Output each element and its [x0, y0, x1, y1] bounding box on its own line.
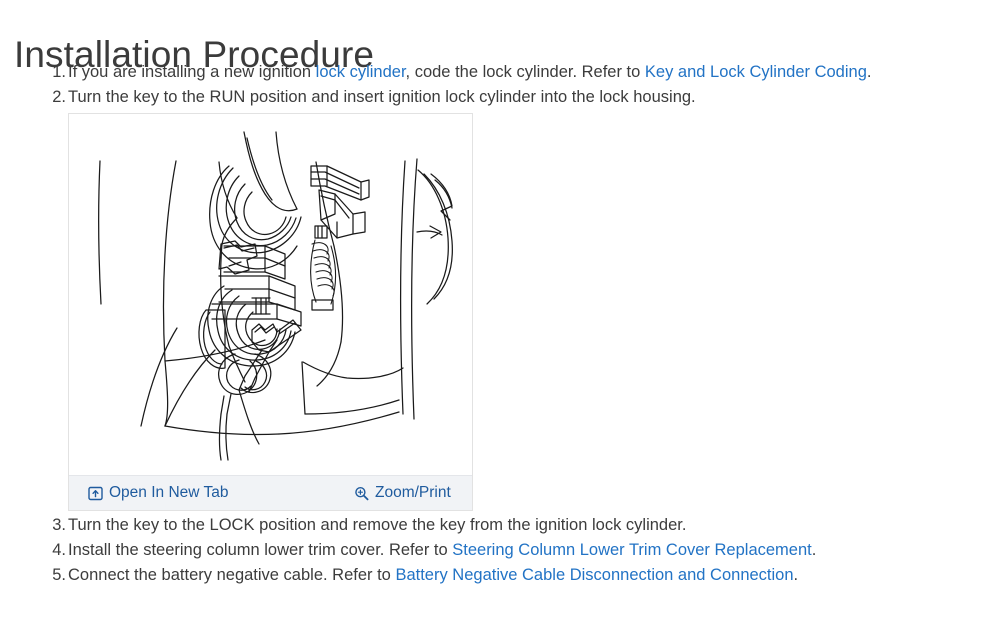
list-item-number: 5.: [44, 563, 66, 588]
zoom-print-button[interactable]: Zoom/Print: [354, 484, 451, 502]
procedure-list-top: 1. If you are installing a new ignition …: [0, 60, 871, 110]
step-text-fragment: , code the lock cylinder. Refer to: [406, 63, 645, 81]
list-item: 5. Connect the battery negative cable. R…: [0, 563, 816, 588]
steering-column-lock-cylinder-drawing: [69, 114, 472, 475]
step-text-fragment: .: [867, 63, 872, 81]
step-text-fragment: .: [812, 541, 817, 559]
procedure-list-bottom: 3. Turn the key to the LOCK position and…: [0, 513, 816, 588]
step-text-fragment: .: [794, 566, 799, 584]
zoom-print-label: Zoom/Print: [375, 484, 451, 502]
list-item-number: 4.: [44, 538, 66, 563]
list-item-number: 1.: [44, 60, 66, 85]
list-item-number: 3.: [44, 513, 66, 538]
list-item: 2. Turn the key to the RUN position and …: [0, 85, 871, 110]
list-item: 1. If you are installing a new ignition …: [0, 60, 871, 85]
list-item: 4. Install the steering column lower tri…: [0, 538, 816, 563]
list-item: 3. Turn the key to the LOCK position and…: [0, 513, 816, 538]
step-text-fragment: Install the steering column lower trim c…: [68, 541, 452, 559]
open-in-new-tab-label: Open In New Tab: [109, 484, 228, 502]
link-steering-column-lower-trim-cover-replacement[interactable]: Steering Column Lower Trim Cover Replace…: [452, 541, 811, 559]
list-item-text: Install the steering column lower trim c…: [68, 541, 816, 559]
list-item-text: Turn the key to the RUN position and ins…: [68, 88, 696, 106]
document-page: Installation Procedure 1. If you are ins…: [0, 0, 1005, 620]
step-text-fragment: Turn the key to the RUN position and ins…: [68, 88, 696, 106]
open-in-new-tab-icon: [88, 486, 103, 501]
list-item-text: Turn the key to the LOCK position and re…: [68, 516, 686, 534]
list-item-text: Connect the battery negative cable. Refe…: [68, 566, 798, 584]
step-text-fragment: Turn the key to the LOCK position and re…: [68, 516, 686, 534]
step-text-fragment: Connect the battery negative cable. Refe…: [68, 566, 395, 584]
link-lock-cylinder[interactable]: lock cylinder: [316, 63, 406, 81]
list-item-text: If you are installing a new ignition loc…: [68, 63, 871, 81]
open-in-new-tab-button[interactable]: Open In New Tab: [88, 484, 228, 502]
list-item-number: 2.: [44, 85, 66, 110]
figure-canvas: [69, 114, 472, 475]
magnifier-plus-icon: [354, 486, 369, 501]
figure-frame: Open In New Tab Zoom/Print: [68, 113, 473, 511]
link-key-and-lock-cylinder-coding[interactable]: Key and Lock Cylinder Coding: [645, 63, 867, 81]
step-text-fragment: If you are installing a new ignition: [68, 63, 316, 81]
link-battery-negative-cable-disconnection-and-connection[interactable]: Battery Negative Cable Disconnection and…: [395, 566, 793, 584]
figure-toolbar: Open In New Tab Zoom/Print: [69, 475, 472, 510]
